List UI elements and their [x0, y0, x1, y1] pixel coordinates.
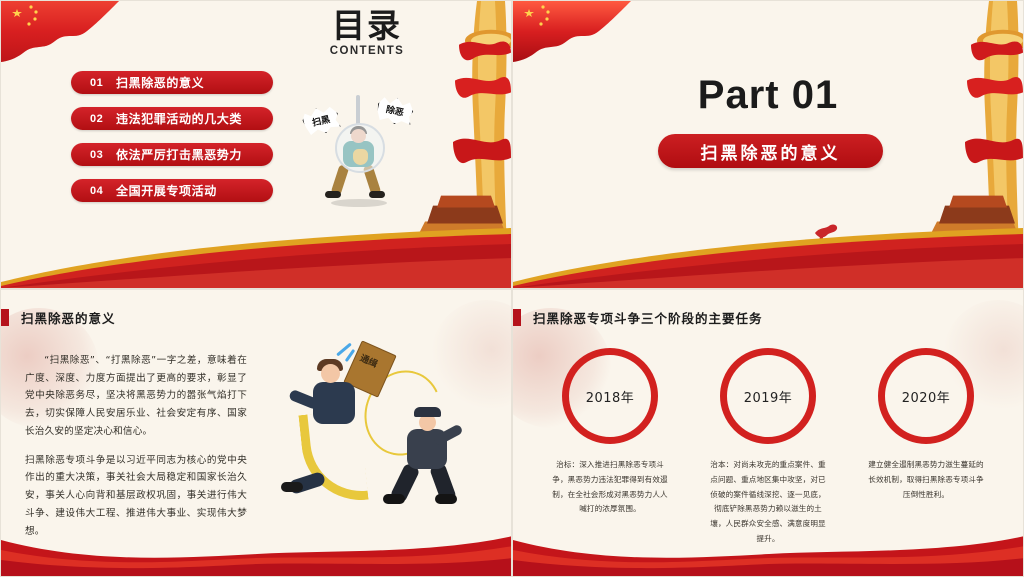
stage-description: 治本：对尚未攻克的重点案件、重点问题、重点地区集中攻坚，对已侦破的案件循线深挖、…	[709, 458, 827, 547]
stage-ring: 2018年	[562, 348, 658, 444]
chinese-flag-icon	[513, 1, 631, 63]
stage-year-label: 2020年	[902, 387, 951, 406]
meaning-paragraph-2: 扫黑除恶专项斗争是以习近平同志为核心的党中央作出的重大决策，事关社会大局稳定和国…	[25, 452, 247, 541]
officer-shoe-right	[435, 494, 457, 504]
red-wave-band	[513, 226, 1024, 288]
slide-meaning[interactable]: 扫黑除恶的意义 “扫黑除恶”、“打黑除恶”一字之差，意味着在广度、深度、力度方面…	[0, 289, 512, 577]
police-chase-illustration: 通缉	[273, 342, 488, 527]
huabiao-pillar-illustration	[893, 1, 1023, 288]
thief-body	[313, 382, 355, 424]
contents-title-cn: 目录	[287, 9, 447, 44]
toc-item-03[interactable]: 03 依法严厉打击黑恶势力	[71, 143, 273, 166]
comic-bubble-left: 扫黑	[300, 103, 341, 137]
magnifier-comic-illustration: 扫黑 除恶	[301, 79, 411, 209]
dove-silhouette-icon	[813, 223, 839, 241]
contents-title-en: CONTENTS	[287, 45, 447, 57]
slide-thumbnail-grid: 目录 CONTENTS 01 扫黑除恶的意义 02 违法犯罪活动的几大类 03 …	[0, 0, 1024, 577]
slide-part-cover[interactable]: Part 01 扫黑除恶的意义	[512, 0, 1024, 289]
figure-shadow	[331, 199, 387, 207]
stage-column-2019: 2019年 治本：对尚未攻克的重点案件、重点问题、重点地区集中攻坚，对已侦破的案…	[698, 348, 838, 547]
toc-number: 01	[90, 77, 112, 89]
stage-ring: 2020年	[878, 348, 974, 444]
officer-shoe-left	[383, 494, 405, 504]
figure-shoe-left	[325, 191, 341, 198]
magnifier-handle-icon	[356, 95, 360, 125]
contents-title-group: 目录 CONTENTS	[287, 9, 447, 57]
slide-contents[interactable]: 目录 CONTENTS 01 扫黑除恶的意义 02 违法犯罪活动的几大类 03 …	[0, 0, 512, 289]
stage-description: 建立健全遏制黑恶势力滋生蔓延的长效机制，取得扫黑除恶专项斗争压倒性胜利。	[867, 458, 985, 502]
red-wave-band	[1, 226, 512, 288]
part-title: Part 01	[513, 73, 1023, 118]
toc-label: 全国开展专项活动	[116, 182, 217, 199]
comic-bubble-right: 除恶	[375, 94, 416, 128]
section-header-stages: 扫黑除恶专项斗争三个阶段的主要任务	[513, 308, 763, 327]
slide-stages[interactable]: 扫黑除恶专项斗争三个阶段的主要任务 2018年 治标：深入推进扫黑除恶专项斗争，…	[512, 289, 1024, 577]
part-subtitle-label: 扫黑除恶的意义	[701, 139, 841, 164]
section-title: 扫黑除恶的意义	[21, 308, 116, 327]
stage-year-label: 2019年	[744, 387, 793, 406]
stage-circle-group: 2018年 治标：深入推进扫黑除恶专项斗争，黑恶势力违法犯罪得到有效遏制，在全社…	[513, 348, 1023, 547]
toc-label: 扫黑除恶的意义	[116, 74, 204, 91]
toc-number: 03	[90, 149, 112, 161]
toc-item-01[interactable]: 01 扫黑除恶的意义	[71, 71, 273, 94]
stage-ring: 2019年	[720, 348, 816, 444]
chinese-flag-icon	[1, 1, 119, 63]
figure-shoe-right	[369, 191, 385, 198]
section-accent-bar	[513, 309, 521, 326]
police-cap-icon	[414, 407, 441, 417]
meaning-paragraph-1: “扫黑除恶”、“打黑除恶”一字之差，意味着在广度、深度、力度方面提出了更高的要求…	[25, 352, 247, 441]
toc-item-04[interactable]: 04 全国开展专项活动	[71, 179, 273, 202]
part-subtitle-pill[interactable]: 扫黑除恶的意义	[658, 134, 883, 168]
section-title: 扫黑除恶专项斗争三个阶段的主要任务	[533, 308, 763, 327]
toc-number: 04	[90, 185, 112, 197]
thief-shoe	[281, 482, 303, 492]
toc-label: 依法严厉打击黑恶势力	[116, 146, 242, 163]
stage-description: 治标：深入推进扫黑除恶专项斗争，黑恶势力违法犯罪得到有效遏制，在全社会形成对黑恶…	[551, 458, 669, 517]
meaning-body: “扫黑除恶”、“打黑除恶”一字之差，意味着在广度、深度、力度方面提出了更高的要求…	[25, 352, 247, 551]
section-accent-bar	[1, 309, 9, 326]
thief-head	[321, 364, 340, 383]
magnifier-lens-icon	[335, 123, 385, 173]
stage-column-2020: 2020年 建立健全遏制黑恶势力滋生蔓延的长效机制，取得扫黑除恶专项斗争压倒性胜…	[856, 348, 996, 547]
toc-item-02[interactable]: 02 违法犯罪活动的几大类	[71, 107, 273, 130]
stage-column-2018: 2018年 治标：深入推进扫黑除恶专项斗争，黑恶势力违法犯罪得到有效遏制，在全社…	[540, 348, 680, 547]
stage-year-label: 2018年	[586, 387, 635, 406]
toc-number: 02	[90, 113, 112, 125]
section-header-meaning: 扫黑除恶的意义	[1, 308, 116, 327]
contents-list: 01 扫黑除恶的意义 02 违法犯罪活动的几大类 03 依法严厉打击黑恶势力 0…	[71, 71, 273, 215]
toc-label: 违法犯罪活动的几大类	[116, 110, 242, 127]
